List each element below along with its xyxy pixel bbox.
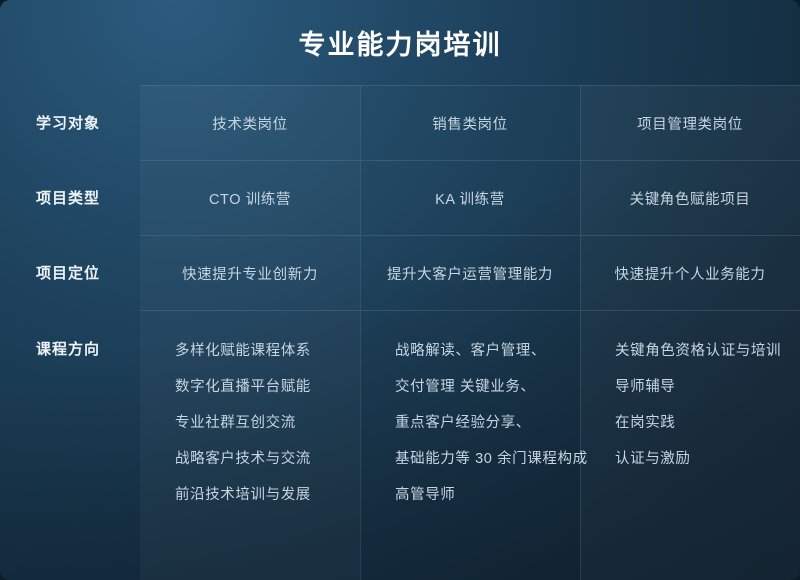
direction-line: 数字化直播平台赋能	[175, 369, 311, 405]
direction-line: 基础能力等 30 余门课程构成	[395, 441, 588, 477]
cell-positioning-col2: 提升大客户运营管理能力	[360, 235, 580, 310]
direction-line: 战略客户技术与交流	[175, 441, 311, 477]
direction-line: 在岗实践	[615, 405, 781, 441]
direction-line: 战略解读、客户管理、	[395, 333, 588, 369]
row-label-audience: 学习对象	[0, 85, 140, 160]
cell-positioning-col3: 快速提升个人业务能力	[580, 235, 800, 310]
direction-line: 多样化赋能课程体系	[175, 333, 311, 369]
direction-line: 重点客户经验分享、	[395, 405, 588, 441]
cell-directions-col2: 战略解读、客户管理、交付管理 关键业务、重点客户经验分享、基础能力等 30 余门…	[360, 310, 580, 580]
cell-directions-col3: 关键角色资格认证与培训导师辅导在岗实践认证与激励	[580, 310, 800, 580]
cell-audience-col3: 项目管理类岗位	[580, 85, 800, 160]
page-title: 专业能力岗培训	[299, 23, 502, 62]
cell-program-type-col1: CTO 训练营	[140, 160, 360, 235]
cell-audience-col2: 销售类岗位	[360, 85, 580, 160]
row-label-course-directions: 课程方向	[0, 310, 140, 580]
cell-program-type-col2: KA 训练营	[360, 160, 580, 235]
comparison-table: 学习对象 技术类岗位 销售类岗位 项目管理类岗位 项目类型 CTO 训练营 KA…	[0, 85, 800, 580]
row-label-positioning: 项目定位	[0, 235, 140, 310]
cell-program-type-col3: 关键角色赋能项目	[580, 160, 800, 235]
direction-line: 认证与激励	[615, 441, 781, 477]
direction-line: 导师辅导	[615, 369, 781, 405]
direction-list-col2: 战略解读、客户管理、交付管理 关键业务、重点客户经验分享、基础能力等 30 余门…	[395, 333, 588, 513]
direction-line: 专业社群互创交流	[175, 405, 311, 441]
direction-list-col3: 关键角色资格认证与培训导师辅导在岗实践认证与激励	[615, 333, 781, 477]
direction-line: 关键角色资格认证与培训	[615, 333, 781, 369]
direction-list-col1: 多样化赋能课程体系数字化直播平台赋能专业社群互创交流战略客户技术与交流前沿技术培…	[175, 333, 311, 513]
training-program-poster: 专业能力岗培训 学习对象 技术类岗位 销售类岗位 项目管理类岗位 项目类型 CT…	[0, 0, 800, 580]
cell-audience-col1: 技术类岗位	[140, 85, 360, 160]
cell-positioning-col1: 快速提升专业创新力	[140, 235, 360, 310]
direction-line: 高管导师	[395, 477, 588, 513]
poster-header: 专业能力岗培训	[0, 0, 800, 85]
row-label-program-type: 项目类型	[0, 160, 140, 235]
cell-directions-col1: 多样化赋能课程体系数字化直播平台赋能专业社群互创交流战略客户技术与交流前沿技术培…	[140, 310, 360, 580]
direction-line: 交付管理 关键业务、	[395, 369, 588, 405]
direction-line: 前沿技术培训与发展	[175, 477, 311, 513]
